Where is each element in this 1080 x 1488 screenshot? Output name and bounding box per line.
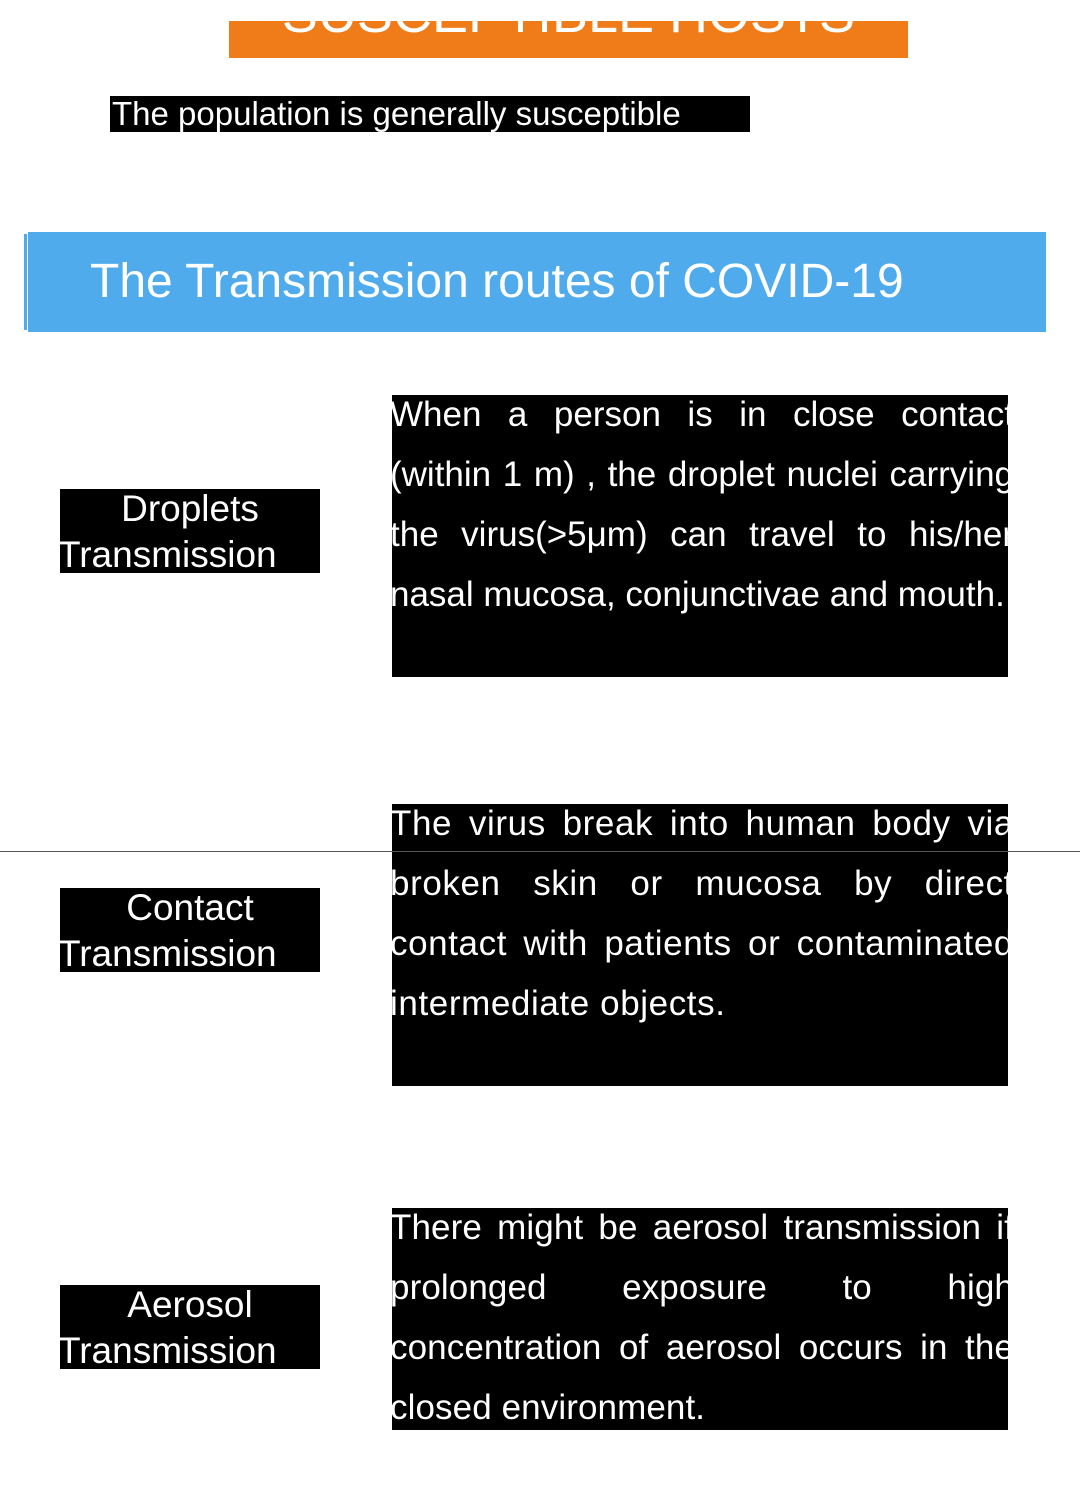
subtitle-highlight-box: The population is generally susceptible <box>110 96 750 132</box>
transmission-route-row: Droplets Transmission When a person is i… <box>0 385 1080 685</box>
page-divider <box>0 851 1080 852</box>
route-description-text: There might be aerosol transmission if p… <box>392 1208 1008 1430</box>
route-label-highlight-box: Aerosol Transmission <box>60 1285 320 1369</box>
section-banner-accent-bar <box>24 234 27 330</box>
route-label-line-2: Transmission <box>58 531 333 579</box>
route-label-line-2: Transmission <box>58 930 333 978</box>
section-banner: The Transmission routes of COVID-19 <box>28 232 1046 332</box>
route-label-highlight-box: Droplets Transmission <box>60 489 320 573</box>
route-description-box-droplets: When a person is in close contact (withi… <box>392 395 1008 677</box>
route-label-line-1: Droplets <box>60 485 320 533</box>
route-description-text: The virus break into human body via brok… <box>392 804 1008 1034</box>
route-label-highlight-box: Contact Transmission <box>60 888 320 972</box>
route-label-line-1: Aerosol <box>60 1281 320 1329</box>
route-label-line-2: Transmission <box>58 1327 333 1375</box>
subtitle-text: The population is generally susceptible <box>112 96 681 132</box>
route-label-aerosol: Aerosol Transmission <box>60 1285 320 1369</box>
route-label-line-1: Contact <box>60 884 320 932</box>
page-title: SUSCEPTIBLE HOSTS <box>229 0 908 46</box>
transmission-route-row: Aerosol Transmission There might be aero… <box>0 1190 1080 1430</box>
route-label-droplets: Droplets Transmission <box>60 489 320 573</box>
route-description-text: When a person is in close contact (withi… <box>392 395 1008 625</box>
section-title: The Transmission routes of COVID-19 <box>90 232 904 332</box>
transmission-route-row: Contact Transmission The virus break int… <box>0 790 1080 1090</box>
route-label-contact: Contact Transmission <box>60 888 320 972</box>
route-description-box-aerosol: There might be aerosol transmission if p… <box>392 1208 1008 1430</box>
route-description-box-contact: The virus break into human body via brok… <box>392 804 1008 1086</box>
